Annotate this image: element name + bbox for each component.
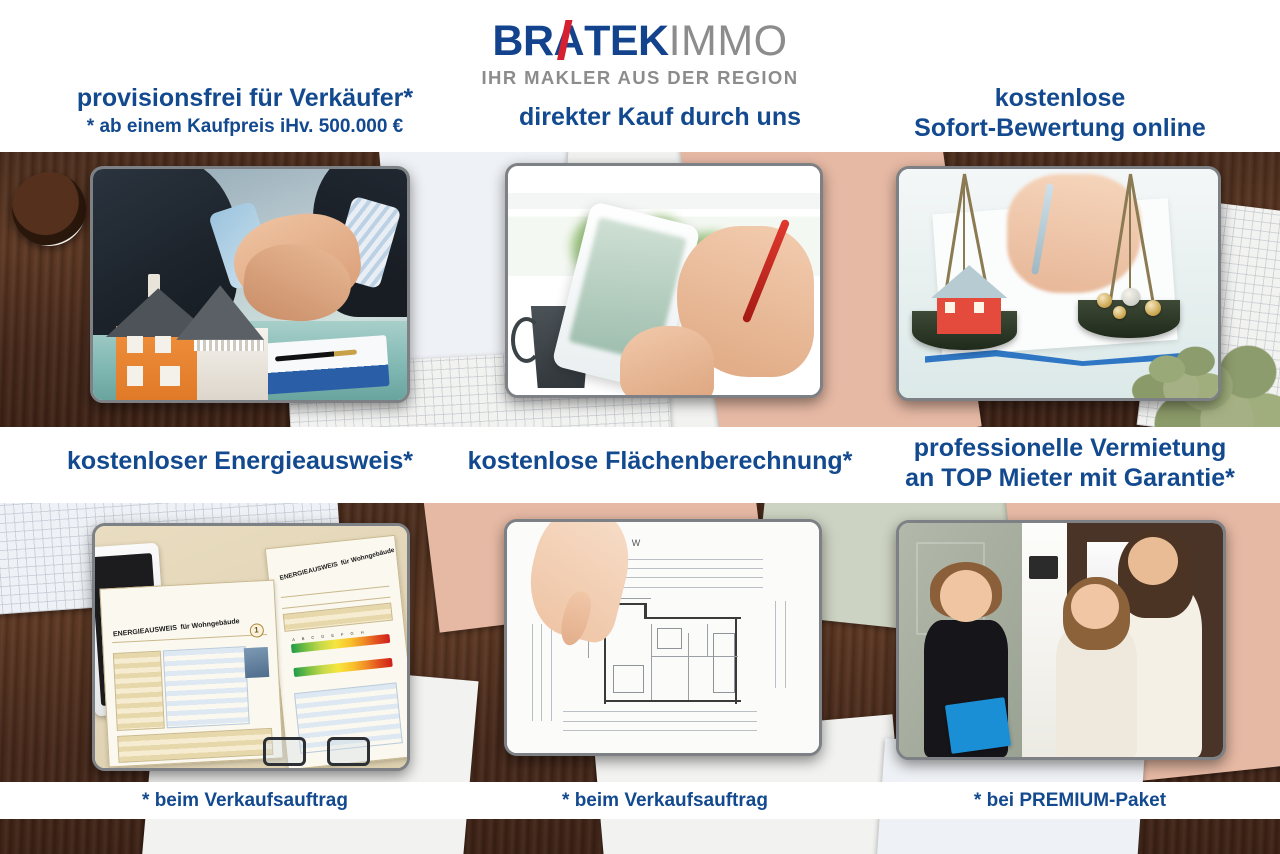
dimension-line <box>551 624 552 721</box>
house-window <box>974 302 985 313</box>
logo-text-immo: IMMO <box>669 17 788 65</box>
house-door <box>160 366 179 386</box>
energieausweis-subtitle-text: für Wohngebäude <box>181 618 241 631</box>
energieausweis-title-right: ENERGIEAUSWEIS für Wohngebäude <box>278 541 396 583</box>
house-window <box>127 336 143 353</box>
energieausweis-page-left: ENERGIEAUSWEIS für Wohngebäude 1 <box>100 580 284 768</box>
feature-image-flaechenberechnung: W <box>504 519 822 756</box>
feature-title-line2: an TOP Mieter mit Garantie* <box>870 464 1270 494</box>
hand-holding-tablet <box>620 326 714 395</box>
room-outline <box>713 633 735 693</box>
interior-wall <box>651 624 653 700</box>
feature-title-provisionsfrei: provisionsfrei für Verkäufer* * ab einem… <box>30 84 460 138</box>
footnote-vermietung: * bei PREMIUM-Paket <box>880 790 1260 812</box>
lens-left <box>263 737 305 766</box>
page-number-badge: 1 <box>250 624 265 639</box>
feature-image-vermietung <box>896 520 1226 760</box>
logo-text-bra: BR <box>492 17 553 65</box>
value-column <box>163 646 250 728</box>
logo-wordmark: BRATEKIMMO <box>0 16 1280 66</box>
feature-title-line2: Sofort-Bewertung online <box>860 114 1260 144</box>
house-balcony <box>194 340 264 351</box>
woman-head <box>1071 584 1118 629</box>
exterior-wall <box>644 617 741 620</box>
notes-section <box>117 728 274 763</box>
energieausweis-title-text: ENERGIEAUSWEIS <box>113 625 178 639</box>
dimension-line <box>563 730 756 731</box>
feature-title-flaechenberechnung: kostenlose Flächenberechnung* <box>450 447 870 477</box>
feature-title-direkter-kauf: direkter Kauf durch uns <box>470 103 850 133</box>
house-window <box>155 336 171 353</box>
house-roof <box>931 265 1008 298</box>
footnote-energieausweis: * beim Verkaufsauftrag <box>60 790 430 812</box>
dimension-line <box>775 601 776 689</box>
dimension-line <box>541 624 542 721</box>
interior-wall <box>688 633 690 700</box>
feature-image-energieausweis: ENERGIEAUSWEIS für Wohngebäude A B C D E… <box>92 523 410 771</box>
house-window <box>945 302 956 313</box>
energy-rating-scale <box>294 658 392 677</box>
exterior-wall <box>604 700 741 703</box>
house-body <box>937 295 1001 333</box>
label-column <box>113 650 165 730</box>
logo-text-tek: TEK <box>584 17 669 65</box>
dimension-line <box>532 624 533 721</box>
north-marker: W <box>632 538 641 548</box>
feature-image-direkter-kauf <box>505 163 823 398</box>
room-outline <box>657 628 682 649</box>
person-agent <box>918 570 1015 757</box>
dimension-line <box>563 711 756 712</box>
photo-band-top <box>0 146 1280 433</box>
brand-logo: BRATEKIMMO IHR MAKLER AUS DER REGION <box>0 16 1280 89</box>
interior-wall <box>707 624 709 656</box>
exterior-wall <box>735 619 738 704</box>
exterior-wall <box>644 603 647 619</box>
feature-title-energieausweis: kostenloser Energieausweis* <box>25 447 455 477</box>
energieausweis-subtitle-text: für Wohngebäude <box>340 546 395 566</box>
floorplan-photo: W <box>507 522 819 753</box>
footnote-flaechenberechnung: * beim Verkaufsauftrag <box>480 790 850 812</box>
room-outline <box>613 665 644 693</box>
plant <box>1129 334 1218 398</box>
energieausweis-photo: ENERGIEAUSWEIS für Wohngebäude A B C D E… <box>95 526 407 768</box>
feature-title-line1: professionelle Vermietung <box>870 434 1270 464</box>
eyeglasses <box>263 737 369 766</box>
agent-couple-photo <box>899 523 1223 757</box>
energieausweis-page-right: ENERGIEAUSWEIS für Wohngebäude A B C D E… <box>265 534 407 768</box>
dimension-line <box>563 721 756 722</box>
lens-right <box>327 737 369 766</box>
divider <box>281 585 389 597</box>
house-roof-right <box>176 285 264 339</box>
feature-subtitle-text: * ab einem Kaufpreis iHv. 500.000 € <box>30 116 460 138</box>
handshake-photo <box>93 169 407 400</box>
feature-title-line1: kostenlose <box>860 84 1260 114</box>
coin <box>1145 300 1161 316</box>
dimension-line <box>785 601 786 689</box>
scales-photo <box>899 169 1218 398</box>
person-woman <box>1055 584 1139 757</box>
tablet-photo <box>508 166 820 395</box>
model-house-red <box>931 265 1008 334</box>
feature-title-text: provisionsfrei für Verkäufer* <box>30 84 460 114</box>
house-window <box>127 366 143 386</box>
feature-image-provisionsfrei <box>90 166 410 403</box>
feature-title-sofort-bewertung: kostenlose Sofort-Bewertung online <box>860 84 1260 143</box>
coin <box>1097 293 1112 308</box>
logo-letter-a-with-red-accent: A <box>554 16 585 66</box>
scale-rope <box>1129 174 1132 302</box>
mug-handle <box>511 317 542 363</box>
building-thumbnail <box>244 647 270 678</box>
header-band: BRATEKIMMO IHR MAKLER AUS DER REGION pro… <box>0 0 1280 152</box>
model-house <box>102 257 278 400</box>
agent-head <box>940 570 992 622</box>
energieausweis-title-text: ENERGIEAUSWEIS <box>279 561 339 582</box>
feature-image-sofort-bewertung <box>896 166 1221 401</box>
energieausweis-title-left: ENERGIEAUSWEIS für Wohngebäude <box>113 611 241 639</box>
feature-title-vermietung: professionelle Vermietung an TOP Mieter … <box>870 434 1270 493</box>
clipboard <box>945 697 1011 754</box>
promotional-banner: ENERGIEAUSWEIS für Wohngebäude A B C D E… <box>0 0 1280 854</box>
door-handle <box>1029 556 1058 579</box>
coffee-cup <box>12 172 86 246</box>
window-sill <box>508 193 820 209</box>
